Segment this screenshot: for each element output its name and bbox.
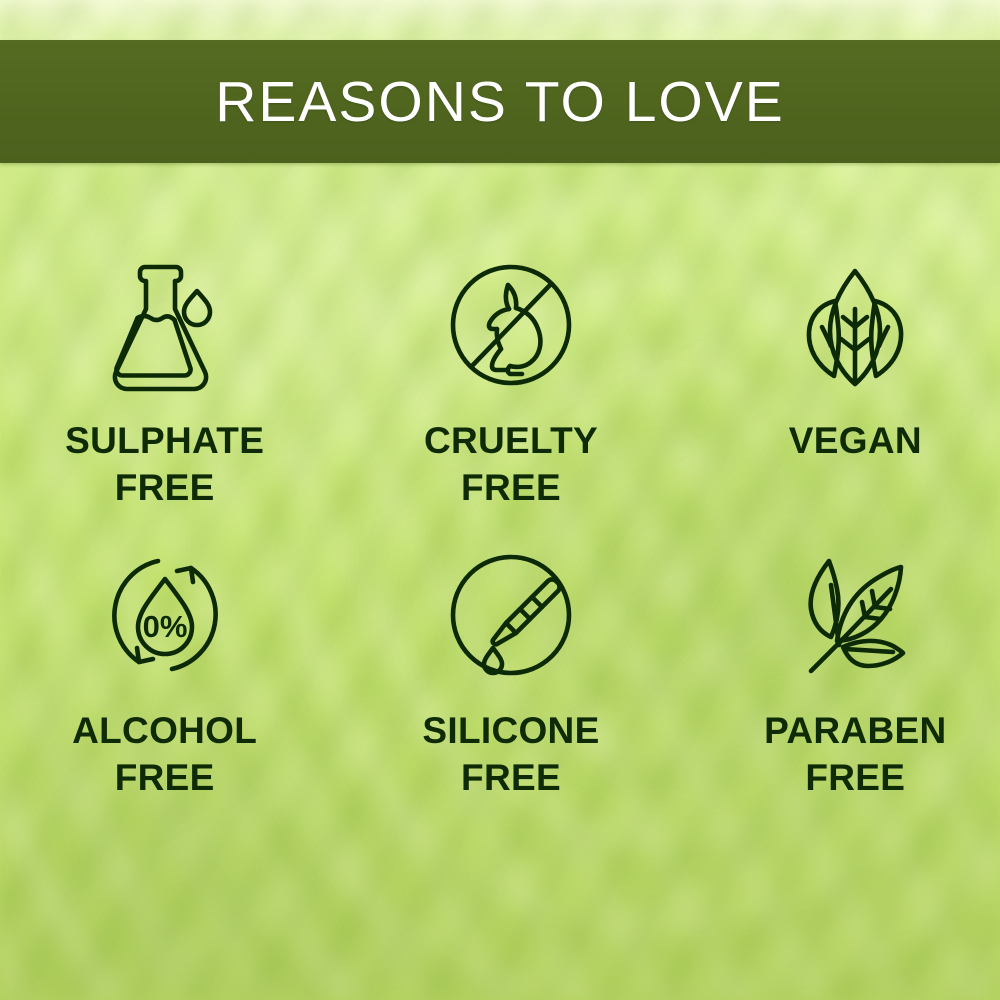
feature-label: VEGAN	[789, 417, 922, 464]
feature-label-line1: CRUELTY	[424, 420, 598, 461]
feature-vegan: VEGAN	[689, 255, 1000, 545]
feature-label: ALCOHOL FREE	[72, 707, 257, 802]
leaf-sprig-icon	[787, 545, 923, 685]
feature-silicone-free: SILICONE FREE	[344, 545, 677, 835]
feature-label: CRUELTY FREE	[424, 417, 598, 512]
feature-label-line2: FREE	[424, 464, 598, 511]
feature-label-line1: SILICONE	[422, 710, 599, 751]
poster-canvas: REASONS TO LOVE SULPHATE FREE	[0, 0, 1000, 1000]
feature-label-line2: FREE	[72, 754, 257, 801]
feature-label-line1: PARABEN	[764, 710, 946, 751]
feature-label: SILICONE FREE	[422, 707, 599, 802]
feature-label-line2: FREE	[764, 754, 946, 801]
flask-droplet-icon	[102, 255, 228, 395]
feature-label: PARABEN FREE	[764, 707, 946, 802]
feature-label-line2: FREE	[422, 754, 599, 801]
feature-label-line2: FREE	[65, 464, 264, 511]
feature-cruelty-free: CRUELTY FREE	[344, 255, 677, 545]
feature-sulphate-free: SULPHATE FREE	[0, 255, 331, 545]
features-grid: SULPHATE FREE	[0, 255, 1000, 835]
dropper-pipette-icon	[445, 545, 577, 685]
feature-label-line1: ALCOHOL	[72, 710, 257, 751]
droplet-zero-percent-text: 0%	[142, 609, 187, 644]
feature-label-line1: SULPHATE	[65, 420, 264, 461]
three-leaves-icon	[789, 255, 921, 395]
zero-percent-droplet-icon: 0%	[99, 545, 231, 685]
feature-paraben-free: PARABEN FREE	[689, 545, 1000, 835]
feature-label: SULPHATE FREE	[65, 417, 264, 512]
no-animal-testing-rabbit-icon	[445, 255, 577, 395]
header-banner: REASONS TO LOVE	[0, 40, 1000, 163]
feature-alcohol-free: 0% ALCOHOL FREE	[0, 545, 331, 835]
page-title: REASONS TO LOVE	[215, 69, 785, 135]
feature-label-line1: VEGAN	[789, 420, 922, 461]
